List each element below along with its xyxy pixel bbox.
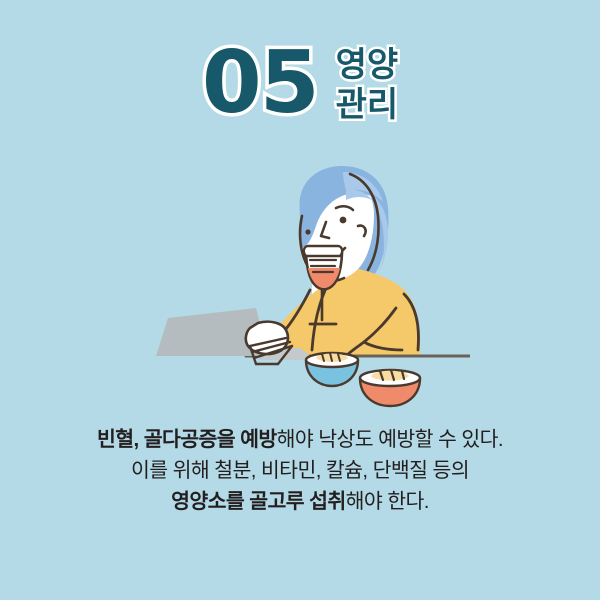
infographic-card: 05 영양 관리 <box>0 0 600 600</box>
body-copy: 빈혈, 골다공증을 예방해야 낙상도 예방할 수 있다. 이를 위해 철분, 비… <box>0 424 600 517</box>
header: 05 영양 관리 <box>0 28 600 138</box>
header-title: 영양 관리 <box>336 42 399 124</box>
illustration-woman-at-desk <box>150 160 470 410</box>
body-copy-line-1-bold: 빈혈, 골다공증을 예방 <box>97 428 277 451</box>
bowl-blue-icon <box>306 353 358 386</box>
body-copy-line-3: 영양소를 골고루 섭취해야 한다. <box>0 486 600 517</box>
body-copy-line-2-rest: 이를 위해 철분, 비타민, 칼슘, 단백질 등의 <box>131 459 469 482</box>
step-number: 05 <box>202 40 318 126</box>
body-copy-line-3-rest: 해야 한다. <box>346 490 429 513</box>
bowl-orange-icon <box>360 370 420 406</box>
header-title-line-2: 관리 <box>336 86 399 124</box>
body-copy-line-2: 이를 위해 철분, 비타민, 칼슘, 단백질 등의 <box>0 455 600 486</box>
header-title-line-1: 영양 <box>336 46 399 84</box>
body-copy-line-1: 빈혈, 골다공증을 예방해야 낙상도 예방할 수 있다. <box>0 424 600 455</box>
body-copy-line-1-rest: 해야 낙상도 예방할 수 있다. <box>277 428 503 451</box>
body-copy-line-3-bold: 영양소를 골고루 섭취 <box>171 490 346 513</box>
